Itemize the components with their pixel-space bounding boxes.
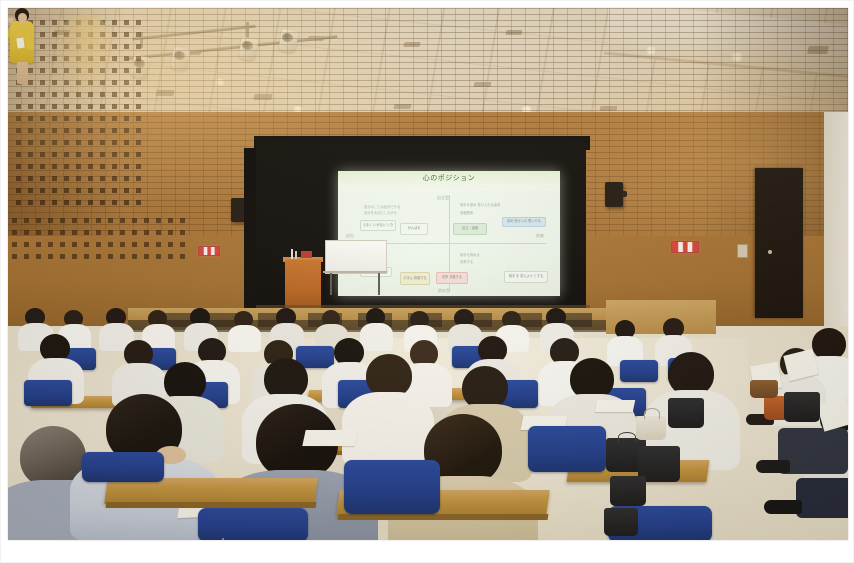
slide-title: 心のポジション — [338, 173, 560, 183]
chair-foreground[interactable] — [82, 452, 164, 482]
slide-box: 自立・協働 — [453, 223, 487, 235]
slide-axis-top-label: 自立型 — [437, 196, 449, 200]
exit-sign-right: 非常口 — [671, 241, 699, 253]
exit-sign-left: 非常口 — [198, 246, 220, 256]
shoe — [756, 460, 790, 473]
chair-leg — [222, 538, 224, 540]
slide-box: がんばる — [400, 223, 428, 235]
marker-pen — [295, 251, 297, 259]
briefcase — [610, 476, 646, 506]
presenter-face — [18, 13, 27, 23]
service-door[interactable] — [755, 168, 803, 318]
trousers — [796, 478, 848, 518]
shoe — [764, 500, 802, 514]
slide-quadrant-text: 攻撃する — [460, 260, 473, 264]
briefcase — [604, 508, 638, 536]
chair[interactable] — [24, 380, 72, 406]
slide-axis-left-label: 自分 — [346, 234, 354, 238]
slide-box: 相手 を 変えよう とする — [504, 271, 548, 283]
chair[interactable] — [620, 360, 658, 382]
whiteboard-leg — [378, 273, 380, 295]
slide-quadrant-text: 自分を大切にしながら — [364, 211, 397, 215]
photo-frame: 非常口 非常口 心のポジション 自立型 他者 自分 依存型 自分の — [0, 0, 854, 563]
wall-switch-plate[interactable] — [737, 244, 748, 258]
exit-sign-right-face — [672, 242, 698, 252]
slide-box: 認め 受け入れ 思いやる — [502, 217, 546, 227]
handout-paper — [595, 400, 636, 412]
presenter-notes — [16, 38, 24, 49]
door-knob-icon[interactable] — [768, 250, 772, 254]
presenter-legs — [17, 62, 28, 84]
projection-screen: 心のポジション 自立型 他者 自分 依存型 自分のことは自分でやる 自分を大切に… — [338, 171, 560, 296]
chair-foreground[interactable] — [344, 460, 440, 514]
slide-quadrant-text: 相手を責める — [460, 253, 480, 257]
handbag — [636, 416, 666, 440]
wall-speaker-right — [605, 182, 623, 207]
bag-handle — [618, 432, 636, 442]
desk-edge — [338, 514, 549, 520]
chair-foreground[interactable] — [528, 426, 606, 472]
whiteboard-leg — [330, 273, 332, 295]
chair-foreground[interactable] — [198, 508, 308, 540]
podium — [285, 260, 321, 310]
slide-box: 攻撃 非難する — [436, 272, 468, 284]
briefcase — [668, 398, 704, 428]
marker-pen — [291, 249, 293, 259]
briefcase — [784, 392, 820, 422]
slide-quadrant-text: 信頼関係 — [460, 211, 473, 215]
exit-sign-left-face — [199, 247, 219, 255]
whiteboard — [325, 240, 387, 274]
slide-quadrant-text: 自分のことは自分でやる — [364, 205, 400, 209]
slide-box: がまん 我慢する — [400, 272, 430, 285]
slide-axis-right-label: 他者 — [536, 234, 544, 238]
slide-quadrant-text: 相手を認め 受け入れる姿勢 — [460, 203, 500, 207]
right-wall-return — [824, 112, 848, 340]
handout-paper — [302, 430, 357, 446]
slide-box: うまく いかない とき — [360, 220, 396, 231]
slide-axis-bottom-label: 依存型 — [438, 289, 450, 293]
briefcase — [750, 380, 778, 398]
bag-handle — [644, 408, 660, 419]
red-box-item — [301, 251, 312, 258]
seminar-photograph: 非常口 非常口 心のポジション 自立型 他者 自分 依存型 自分の — [8, 8, 848, 540]
